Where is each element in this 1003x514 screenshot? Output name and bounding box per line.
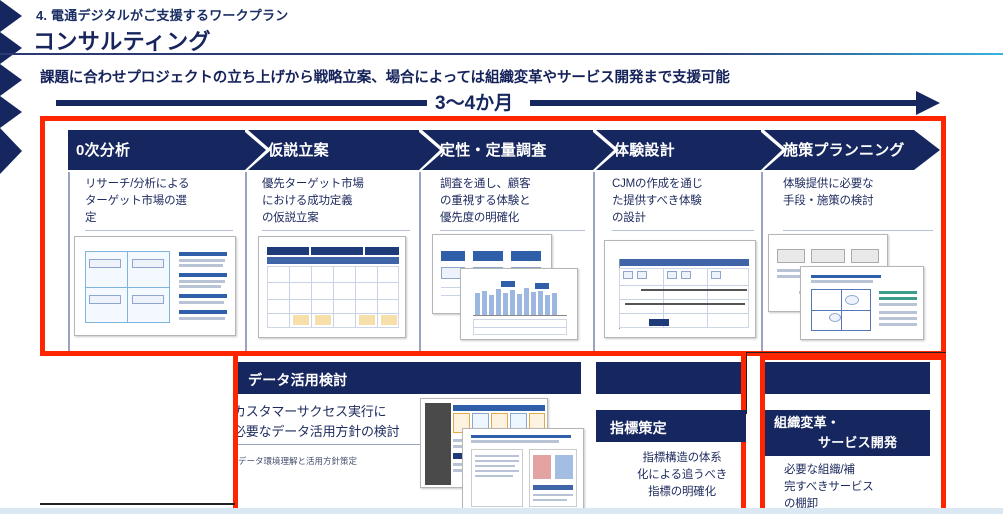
thumbnail-step-4-front[interactable] [800,266,924,340]
kpi-band-arrowhead [0,96,22,128]
data-band-rule [233,444,437,445]
kpi-band-text: 指標構造の体系 化による追うべき 指標の明確化 [622,450,742,501]
step-desc-3: CJMの作成を通じ た提供すべき体験 の設計 [612,176,762,227]
step-label-0[interactable]: 0次分析 [76,139,130,160]
slide-root: 4. 電通デジタルがご支援するワークプラン コンサルティング 課題に合わせプロジ… [0,0,1003,514]
step-column-0 [68,172,70,352]
duration-bar-right [530,100,918,106]
data-band-caption: データ環境理解と活用方針策定 [238,455,357,467]
thumbnail-step-3[interactable] [604,240,756,338]
org-band-arrowhead [0,128,22,174]
org-band-label-line1: 組織変革・ [774,412,840,431]
mid-band-arrowhead [0,32,22,64]
data-band-arrowhead [0,0,22,32]
step-column-2 [419,172,421,352]
duration-arrowhead [916,91,940,115]
title-divider-accent [700,53,1003,55]
thumbnail-data-front[interactable] [462,428,584,512]
right-band-arrowhead [0,64,22,96]
step-desc-4: 体験提供に必要な 手段・施策の検討 [783,176,938,210]
step-desc-1: 優先ターゲット市場 における成功定義 の仮説立案 [262,176,412,227]
bottom-left-rule [40,503,235,505]
slide-kicker: 4. 電通デジタルがご支援するワークプラン [36,5,288,24]
duration-arrow: 3〜4か月 [40,88,940,114]
step-label-3[interactable]: 体験設計 [614,139,675,160]
bottom-accent-strip [0,508,1003,514]
horizontal-divider-top-right [746,352,946,353]
right-band [765,362,930,394]
page-title: コンサルティング [33,24,211,56]
org-band-text: 必要な組織/補 完すべきサービス の棚卸 [784,462,914,513]
step-desc-0: リサーチ/分析による ターゲット市場の選 定 [85,176,235,227]
step-rule-4 [783,230,933,231]
step-label-4[interactable]: 施策プランニング [783,139,905,160]
thumbnail-step-1[interactable] [258,236,406,338]
step-rule-3 [612,230,754,231]
thumbnail-step-0[interactable] [74,236,236,336]
step-rule-0 [85,230,233,231]
step-column-1 [245,172,247,352]
kpi-band-label: 指標策定 [610,418,667,438]
step-rule-2 [440,230,585,231]
org-band-label-line2: サービス開発 [818,432,897,451]
duration-label: 3〜4か月 [435,88,513,115]
step-label-2[interactable]: 定性・定量調査 [440,139,546,160]
step-column-3 [593,172,595,352]
mid-band [596,362,746,394]
data-band-text: カスタマーサクセス実行に 必要なデータ活用方針の検討 [233,402,443,442]
duration-bar-left [56,100,427,106]
lead-statement: 課題に合わせプロジェクトの立ち上げから戦略立案、場合によっては組織変革やサービス… [40,66,730,87]
step-label-1[interactable]: 仮説立案 [268,139,329,160]
step-rule-1 [262,230,410,231]
thumbnail-step-2-front[interactable] [460,268,578,340]
step-desc-2: 調査を通し、顧客 の重視する体験と 優先度の明確化 [440,176,590,227]
data-band-label: データ活用検討 [248,370,347,390]
vertical-divider-right [746,352,747,414]
